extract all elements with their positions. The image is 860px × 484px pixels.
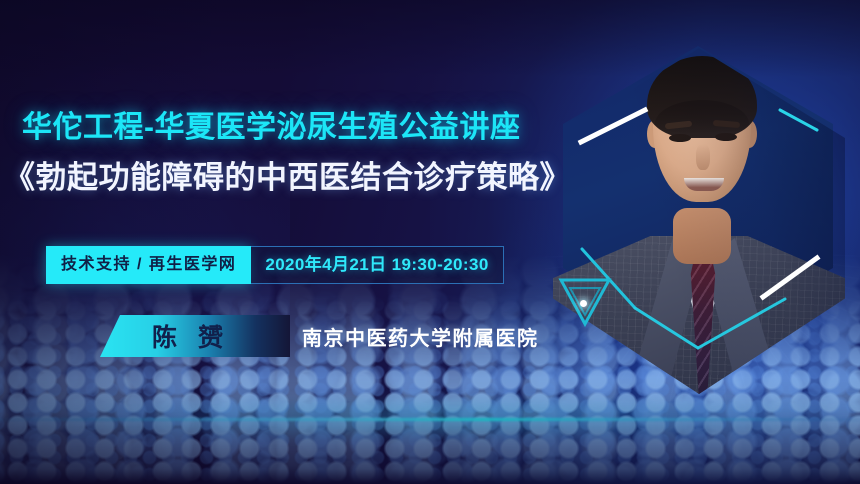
page-title: 华佗工程-华夏医学泌尿生殖公益讲座 <box>22 102 542 146</box>
speaker-row: 陈 赟 南京中医药大学附属医院 <box>100 314 539 358</box>
speaker-organization: 南京中医药大学附属医院 <box>302 322 539 351</box>
accent-dot-icon <box>580 300 587 307</box>
page-subtitle: 《勃起功能障碍的中西医结合诊疗策略》 <box>4 152 564 197</box>
tech-support-badge: 技术支持 / 再生医学网 <box>46 246 251 284</box>
speaker-name: 陈 赟 <box>152 318 230 354</box>
datetime-badge: 2020年4月21日 19:30-20:30 <box>251 246 503 284</box>
info-row: 技术支持 / 再生医学网 2020年4月21日 19:30-20:30 <box>46 246 504 284</box>
webinar-poster: 华佗工程-华夏医学泌尿生殖公益讲座 《勃起功能障碍的中西医结合诊疗策略》 技术支… <box>0 0 860 484</box>
photo-shading-overlay <box>553 12 845 394</box>
portrait-container <box>535 18 860 370</box>
speaker-name-bar: 陈 赟 <box>100 315 290 357</box>
